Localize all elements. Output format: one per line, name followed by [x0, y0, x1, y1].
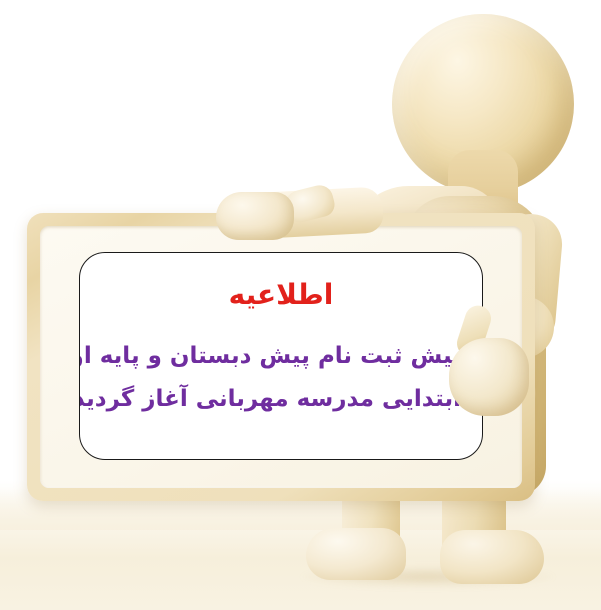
character-right-hand [449, 338, 529, 416]
character-left-hand [216, 192, 294, 240]
character-hands-overlay [0, 0, 601, 610]
poster-scene: اطلاعیه پیش ثبت نام پیش دبستان و پایه او… [0, 0, 601, 610]
